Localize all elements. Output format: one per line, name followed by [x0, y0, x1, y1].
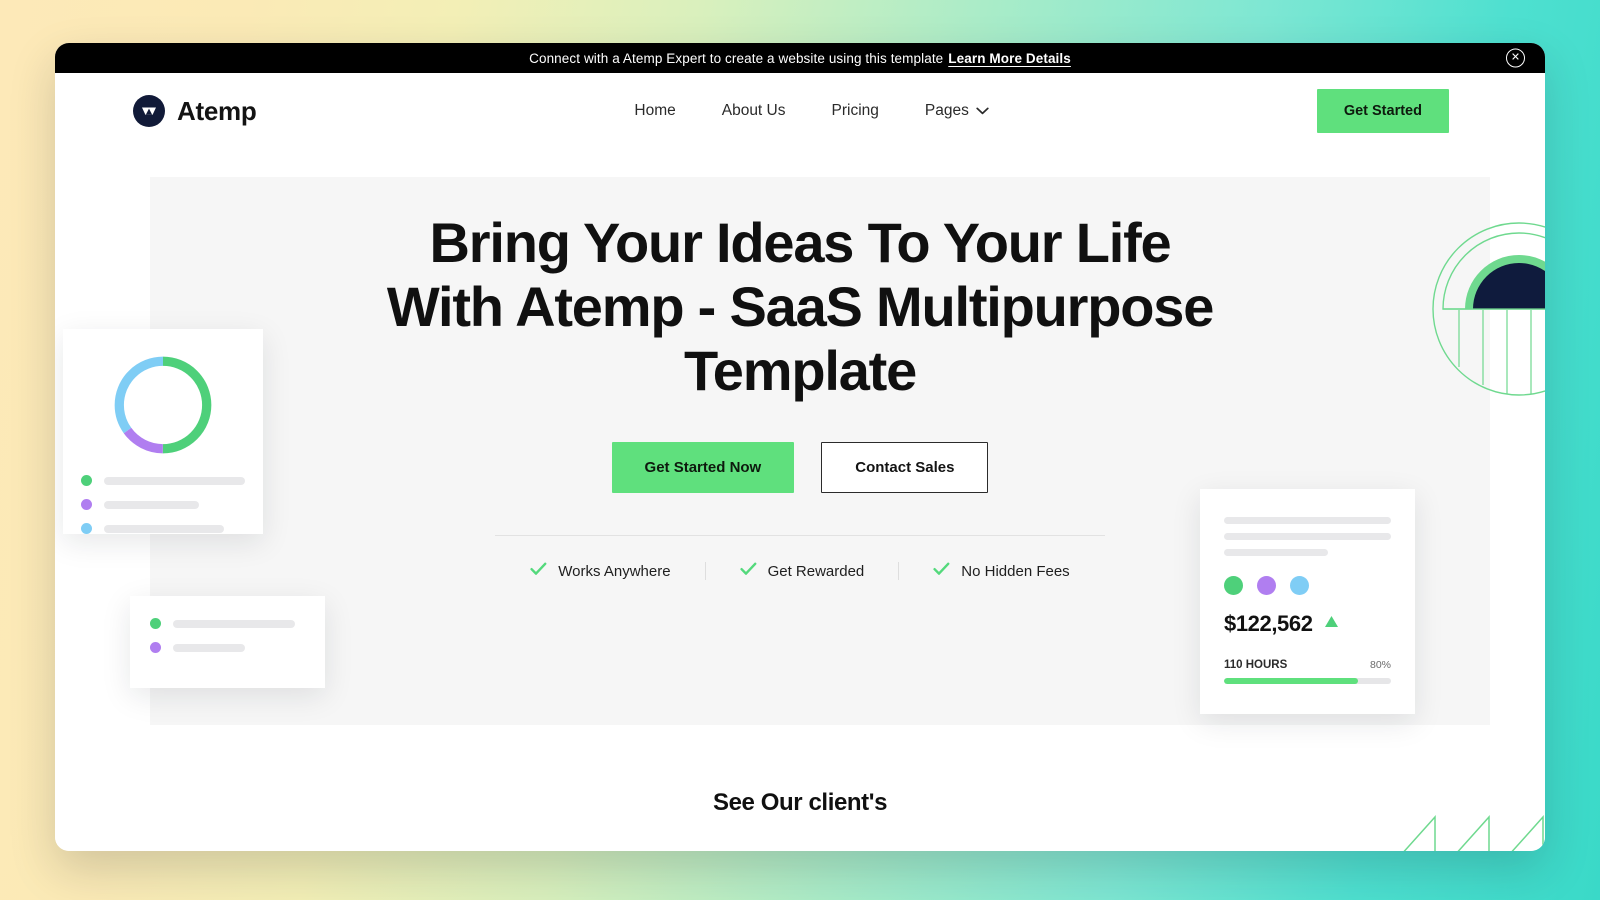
check-icon	[740, 562, 757, 580]
progress-bar-track	[1224, 678, 1391, 684]
nav-item-pricing[interactable]: Pricing	[832, 102, 879, 120]
nav-item-home[interactable]: Home	[634, 102, 675, 120]
brand-name: Atemp	[177, 96, 256, 127]
stats-amount-row: $122,562	[1224, 611, 1391, 637]
feature-label: Works Anywhere	[558, 563, 670, 580]
nav-item-pages[interactable]: Pages	[925, 102, 989, 120]
list-dot-purple	[150, 642, 161, 653]
list-placeholder-bar	[173, 620, 295, 628]
header-get-started-button[interactable]: Get Started	[1317, 89, 1449, 133]
feature-works-anywhere: Works Anywhere	[496, 562, 704, 580]
check-icon	[530, 562, 547, 580]
list-dot-green	[150, 618, 161, 629]
triangle-up-icon	[1324, 615, 1339, 633]
get-started-now-button[interactable]: Get Started Now	[612, 442, 795, 493]
list-placeholder-bar	[173, 644, 245, 652]
list-placeholder-card	[130, 596, 325, 688]
banner-learn-more-link[interactable]: Learn More Details	[948, 51, 1071, 66]
website-preview-card: Connect with a Atemp Expert to create a …	[55, 43, 1545, 851]
divider	[495, 535, 1105, 536]
feature-label: Get Rewarded	[768, 563, 865, 580]
nav-label: Pages	[925, 102, 969, 120]
nav-label: Pricing	[832, 102, 879, 120]
nav-label: Home	[634, 102, 675, 120]
contact-sales-button[interactable]: Contact Sales	[821, 442, 988, 493]
list-item	[150, 642, 305, 653]
hero-content: Bring Your Ideas To Your Life With Atemp…	[55, 149, 1545, 580]
feature-label: No Hidden Fees	[961, 563, 1069, 580]
list-item	[150, 618, 305, 629]
stats-meta: 110 HOURS 80%	[1224, 659, 1391, 671]
clients-section: See Our client's	[55, 769, 1545, 851]
hero-cta-group: Get Started Now Contact Sales	[612, 442, 989, 493]
announcement-banner: Connect with a Atemp Expert to create a …	[55, 43, 1545, 73]
feature-get-rewarded: Get Rewarded	[705, 562, 899, 580]
progress-bar-fill	[1224, 678, 1358, 684]
stats-percent-label: 80%	[1370, 659, 1391, 671]
check-icon	[933, 562, 950, 580]
main-nav: Home About Us Pricing Pages	[634, 102, 988, 120]
stats-hours-label: 110 HOURS	[1224, 659, 1287, 671]
site-header: Atemp Home About Us Pricing Pages Get	[55, 73, 1545, 149]
clients-title: See Our client's	[55, 789, 1545, 817]
hero-section: $122,562 110 HOURS 80% Bring Your Ideas …	[55, 149, 1545, 769]
nav-label: About Us	[722, 102, 786, 120]
nav-item-about-us[interactable]: About Us	[722, 102, 786, 120]
brand-logo[interactable]: Atemp	[133, 95, 256, 127]
banner-text: Connect with a Atemp Expert to create a …	[529, 51, 943, 66]
hero-title: Bring Your Ideas To Your Life With Atemp…	[380, 211, 1220, 402]
close-circle-icon[interactable]: ✕	[1506, 49, 1525, 68]
atemp-logo-icon	[133, 95, 165, 127]
feature-no-hidden-fees: No Hidden Fees	[898, 562, 1103, 580]
chevron-down-icon	[976, 102, 989, 120]
stats-amount: $122,562	[1224, 611, 1313, 637]
hero-feature-list: Works Anywhere Get Rewarded	[496, 562, 1103, 580]
